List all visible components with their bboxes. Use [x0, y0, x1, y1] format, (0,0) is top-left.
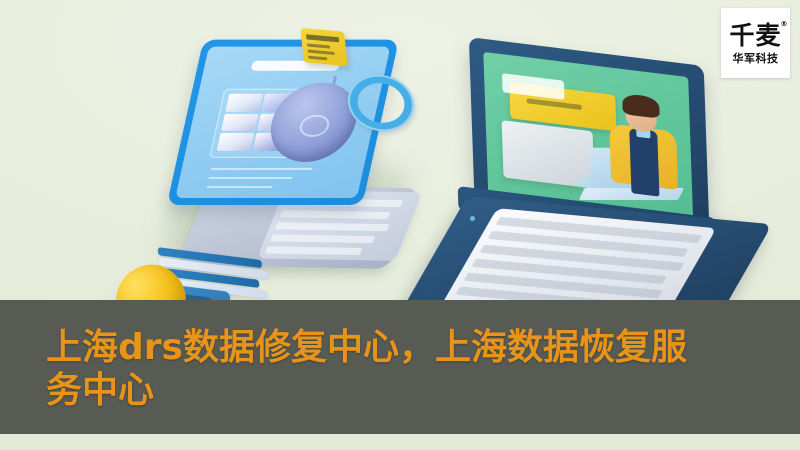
- laptop-indicator-light: [470, 216, 475, 221]
- navy-laptop: [420, 52, 750, 342]
- screenshot-canvas: 千麦 ® 华军科技 上海drs数据修复中心，上海数据恢复服务中心: [0, 0, 800, 450]
- brand-logo-sub-text: 华军科技: [733, 53, 779, 64]
- page-title: 上海drs数据修复中心，上海数据恢复服务中心: [46, 326, 706, 412]
- yellow-card: [300, 28, 347, 66]
- brand-logo-main-text: 千麦: [729, 21, 781, 50]
- brand-logo[interactable]: 千麦 ® 华军科技: [721, 8, 790, 78]
- registered-trademark-icon: ®: [781, 21, 789, 28]
- technician-apron: [629, 128, 659, 197]
- technician-figure: [607, 97, 680, 199]
- brand-logo-main: 千麦 ®: [729, 23, 781, 48]
- light-blue-tablet: [132, 15, 419, 276]
